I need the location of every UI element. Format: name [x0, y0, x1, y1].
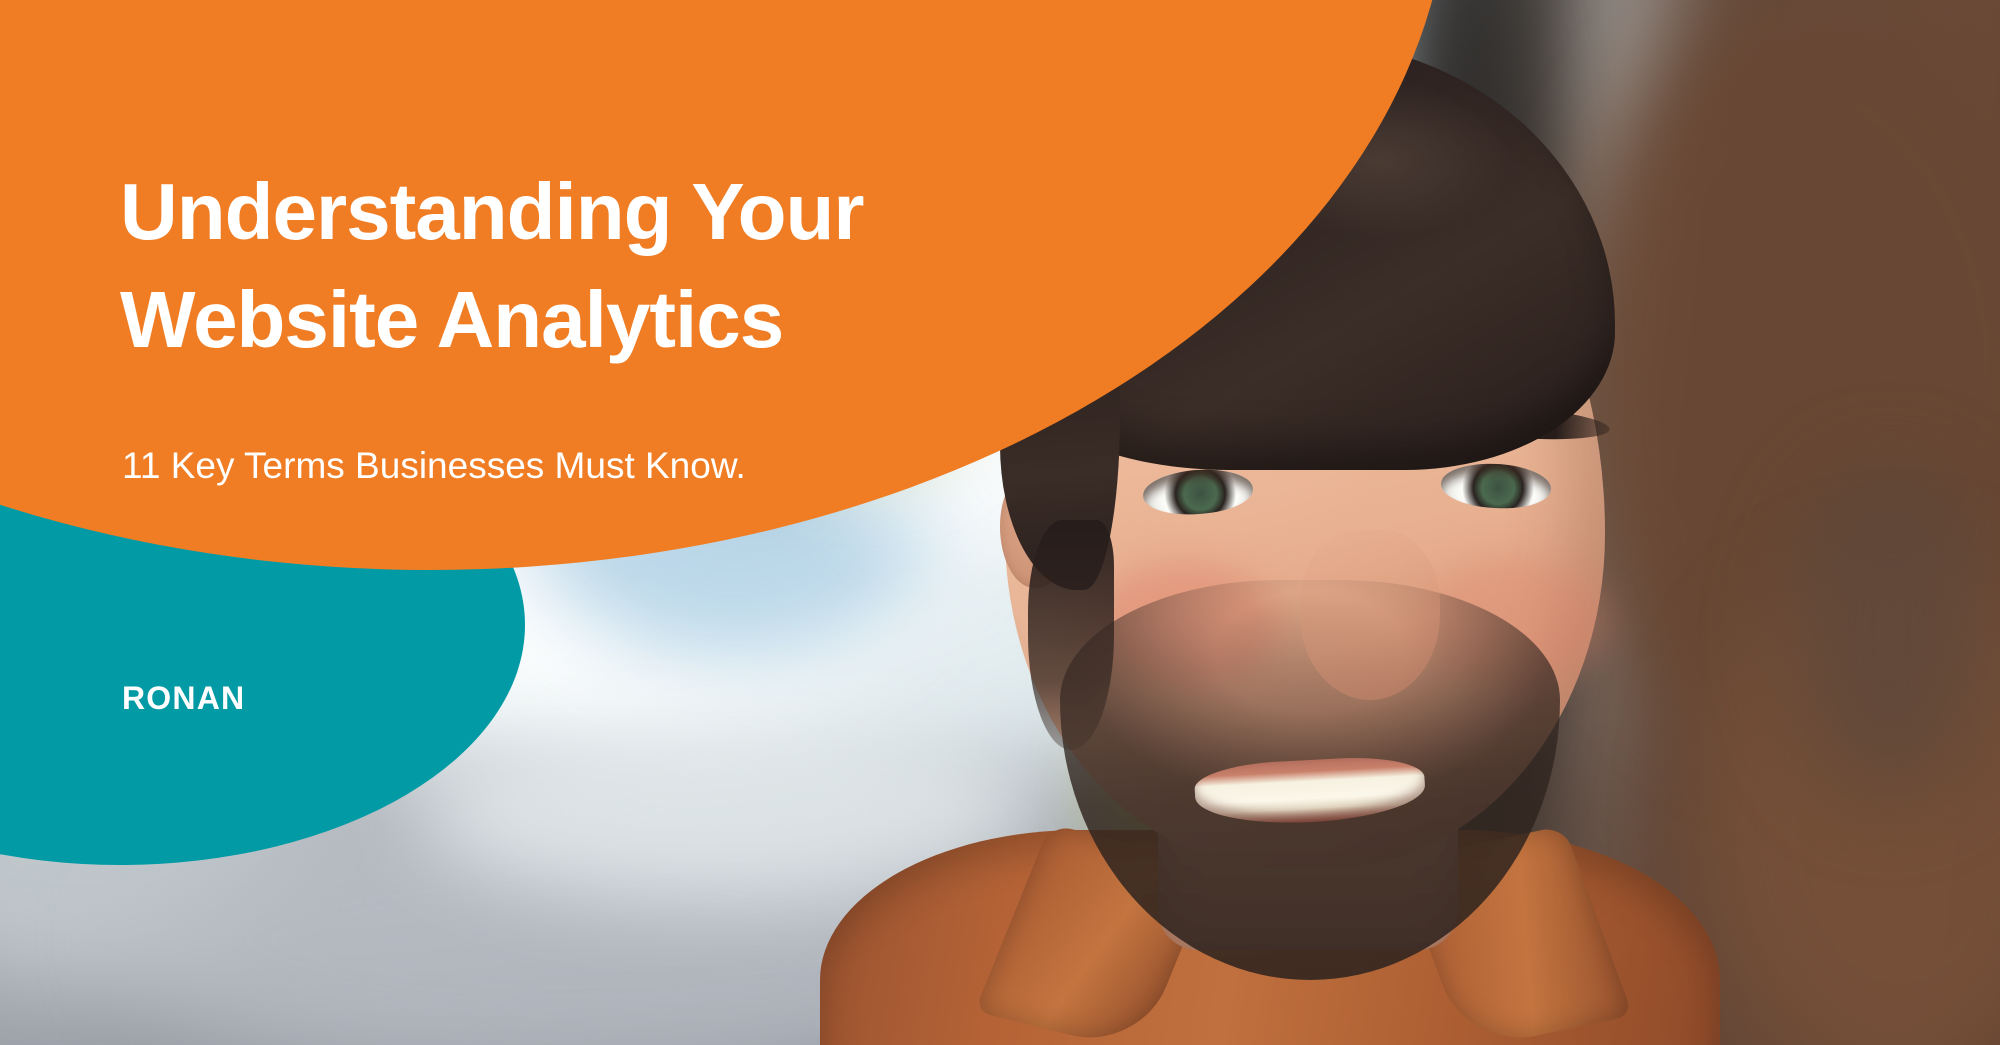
blog-header-banner: Understanding Your Website Analytics 11 …	[0, 0, 2000, 1045]
page-title: Understanding Your Website Analytics	[120, 158, 1240, 376]
author-name-label: RONAN	[122, 680, 245, 717]
page-subtitle: 11 Key Terms Businesses Must Know.	[122, 445, 746, 487]
